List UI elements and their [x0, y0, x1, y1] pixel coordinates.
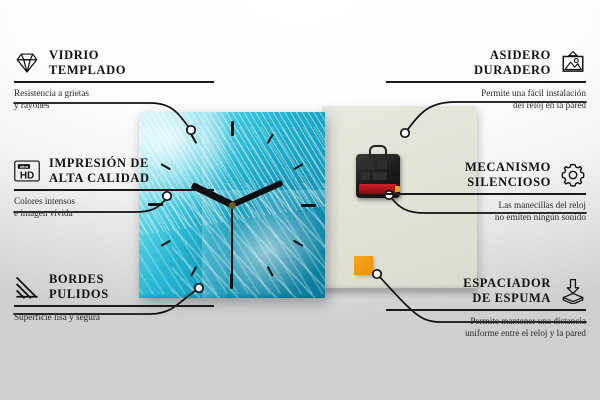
divider	[14, 81, 214, 83]
diamond-icon	[14, 50, 40, 76]
svg-text:HD: HD	[20, 170, 34, 181]
mechanism-detail	[361, 160, 374, 169]
feature-bordes-pulidos: BORDES PULIDOS Superficie lisa y segura	[14, 272, 214, 323]
ultra-hd-icon: ultra HD	[14, 158, 40, 184]
feature-description: Las manecillas del reloj no emiten ningú…	[386, 199, 586, 223]
feature-header: ASIDERO DURADERO	[386, 48, 586, 77]
feature-description: Resistencia a grietas y rayones	[14, 87, 214, 111]
feature-description: Colores intensos e imagen vívida	[14, 195, 214, 219]
clock-minute-hand	[231, 180, 284, 208]
feature-vidrio-templado: VIDRIO TEMPLADO Resistencia a grietas y …	[14, 48, 214, 111]
feature-title: VIDRIO TEMPLADO	[49, 48, 126, 77]
divider	[386, 309, 586, 311]
feature-title: ESPACIADOR DE ESPUMA	[463, 276, 551, 305]
feature-header: ultra HD IMPRESIÓN DE ALTA CALIDAD	[14, 156, 214, 185]
feature-espaciador-de-espuma: ESPACIADOR DE ESPUMA Permite mantener un…	[386, 276, 586, 339]
svg-text:ultra: ultra	[20, 164, 29, 168]
divider	[14, 305, 214, 307]
feature-title: ASIDERO DURADERO	[474, 48, 551, 77]
clock-center-cap	[229, 202, 236, 209]
foam-spacer-icon	[560, 278, 586, 304]
feature-description: Superficie lisa y segura	[14, 311, 214, 323]
feature-description: Permite una fácil instalación del reloj …	[386, 87, 586, 111]
feature-mecanismo-silencioso: MECANISMO SILENCIOSO Las manecillas del …	[386, 160, 586, 223]
mechanism-detail	[373, 172, 387, 180]
hanging-frame-icon	[560, 50, 586, 76]
gear-icon	[560, 162, 586, 188]
polished-edges-icon	[14, 274, 40, 300]
divider	[386, 193, 586, 195]
feature-title: BORDES PULIDOS	[49, 272, 109, 301]
feature-impresion-alta-calidad: ultra HD IMPRESIÓN DE ALTA CALIDAD Color…	[14, 156, 214, 219]
feature-title: MECANISMO SILENCIOSO	[465, 160, 551, 189]
hanging-hook-icon	[369, 145, 387, 156]
divider	[386, 81, 586, 83]
feature-asidero-duradero: ASIDERO DURADERO Permite una fácil insta…	[386, 48, 586, 111]
feature-header: MECANISMO SILENCIOSO	[386, 160, 586, 189]
feature-header: ESPACIADOR DE ESPUMA	[386, 276, 586, 305]
feature-description: Permite mantener una distancia uniforme …	[386, 315, 586, 339]
clock-second-hand	[231, 205, 233, 283]
divider	[14, 189, 214, 191]
feature-header: BORDES PULIDOS	[14, 272, 214, 301]
mechanism-detail	[361, 172, 370, 180]
feature-title: IMPRESIÓN DE ALTA CALIDAD	[49, 156, 150, 185]
feature-header: VIDRIO TEMPLADO	[14, 48, 214, 77]
infographic-stage: VIDRIO TEMPLADO Resistencia a grietas y …	[0, 0, 600, 400]
foam-spacer	[354, 256, 373, 275]
